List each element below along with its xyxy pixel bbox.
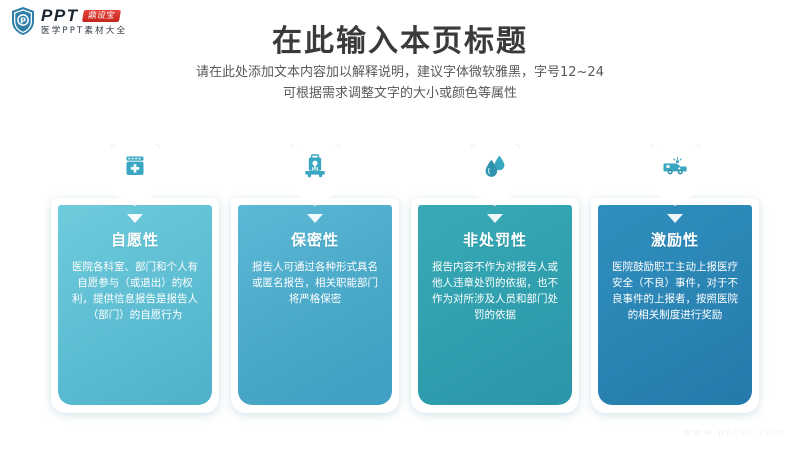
page-subtitle: 请在此处添加文本内容加以解释说明，建议字体微软雅黑，字号12~24 可根据需求调… [0,62,800,104]
card-body: 报告内容不作为对报告人或他人违章处罚的依据，也不作为对所涉及人员和部门处罚的依据 [430,259,560,323]
card-title: 非处罚性 [430,229,560,250]
feature-card[interactable]: 非处罚性 报告内容不作为对报告人或他人违章处罚的依据，也不作为对所涉及人员和部门… [405,140,585,415]
card-title: 自愿性 [70,229,200,250]
footer-watermark: www.ppter.com [684,428,786,438]
card-body: 报告人可通过各种形式具名或匿名报告，相关职能部门将严格保密 [250,259,380,307]
card-panel: 非处罚性 报告内容不作为对报告人或他人违章处罚的依据，也不作为对所涉及人员和部门… [418,205,572,405]
water-drops-icon [482,153,508,179]
subtitle-line-2: 可根据需求调整文字的大小或颜色等属性 [0,83,800,104]
icon-badge [290,144,340,206]
card-panel: 保密性 报告人可通过各种形式具名或匿名报告，相关职能部门将严格保密 [238,205,392,405]
medical-bag-icon [302,153,328,179]
feature-card[interactable]: 激励性 医院鼓励职工主动上报医疗安全（不良）事件，对于不良事件的上报者，按照医院… [585,140,765,415]
ambulance-icon [662,153,688,179]
feature-card[interactable]: 保密性 报告人可通过各种形式具名或匿名报告，相关职能部门将严格保密 [225,140,405,415]
feature-card-list: 自愿性 医院各科室、部门和个人有自愿参与（或退出）的权利，提供信息报告是报告人（… [0,140,800,415]
card-panel: 激励性 医院鼓励职工主动上报医疗安全（不良）事件，对于不良事件的上报者，按照医院… [598,205,752,405]
medicine-jar-icon [122,153,148,179]
icon-badge [110,144,160,206]
card-title: 保密性 [250,229,380,250]
page-title: 在此输入本页标题 [0,16,800,60]
card-body: 医院鼓励职工主动上报医疗安全（不良）事件，对于不良事件的上报者，按照医院的相关制… [610,259,740,323]
icon-badge [470,144,520,206]
card-body: 医院各科室、部门和个人有自愿参与（或退出）的权利，提供信息报告是报告人（部门）的… [70,259,200,323]
subtitle-line-1: 请在此处添加文本内容加以解释说明，建议字体微软雅黑，字号12~24 [0,62,800,83]
card-title: 激励性 [610,229,740,250]
icon-badge [650,144,700,206]
card-panel: 自愿性 医院各科室、部门和个人有自愿参与（或退出）的权利，提供信息报告是报告人（… [58,205,212,405]
feature-card[interactable]: 自愿性 医院各科室、部门和个人有自愿参与（或退出）的权利，提供信息报告是报告人（… [45,140,225,415]
